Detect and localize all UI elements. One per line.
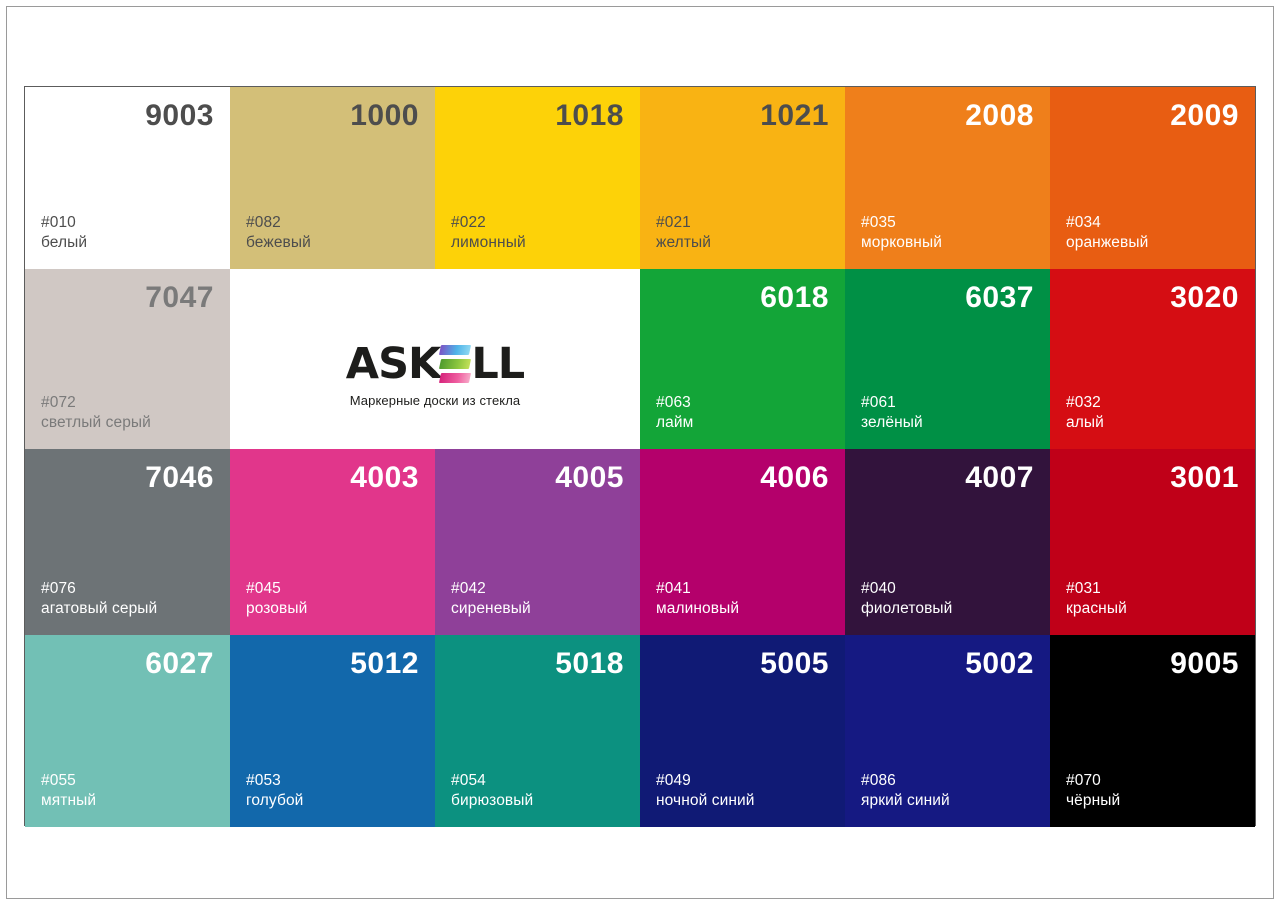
swatch-ral-number: 4003 [246,463,419,493]
swatch-meta: #042сиреневый [451,579,624,619]
swatch-ral-number: 9005 [1066,649,1239,679]
swatch-ral-number: 4006 [656,463,829,493]
swatch-article-code: #045 [246,579,419,599]
marker-stroke-e-icon [440,344,470,384]
marker-stroke-s2 [439,359,471,369]
color-swatch-9003[interactable]: 9003#010белый [25,87,230,269]
swatch-meta: #072светлый серый [41,393,214,433]
swatch-color-name: мятный [41,791,214,811]
color-swatch-7046[interactable]: 7046#076агатовый серый [25,449,230,635]
swatch-ral-number: 1018 [451,101,624,131]
color-swatch-1000[interactable]: 1000#082бежевый [230,87,435,269]
color-swatch-3020[interactable]: 3020#032алый [1050,269,1255,449]
swatch-meta: #063лайм [656,393,829,433]
swatch-article-code: #055 [41,771,214,791]
swatch-article-code: #053 [246,771,419,791]
swatch-color-name: розовый [246,599,419,619]
swatch-ral-number: 2009 [1066,101,1239,131]
color-swatch-6018[interactable]: 6018#063лайм [640,269,845,449]
swatch-meta: #022лимонный [451,213,624,253]
swatch-color-name: лимонный [451,233,624,253]
swatch-meta: #070чёрный [1066,771,1239,811]
swatch-article-code: #082 [246,213,419,233]
swatch-meta: #086яркий синий [861,771,1034,811]
swatch-color-name: яркий синий [861,791,1034,811]
color-swatch-4005[interactable]: 4005#042сиреневый [435,449,640,635]
swatch-meta: #049ночной синий [656,771,829,811]
swatch-article-code: #010 [41,213,214,233]
swatch-ral-number: 4005 [451,463,624,493]
swatch-article-code: #054 [451,771,624,791]
swatch-color-name: чёрный [1066,791,1239,811]
swatch-meta: #061зелёный [861,393,1034,433]
color-swatch-7047[interactable]: 7047#072светлый серый [25,269,230,449]
swatch-ral-number: 7046 [41,463,214,493]
swatch-article-code: #086 [861,771,1034,791]
swatch-article-code: #063 [656,393,829,413]
logo-text-ask: ASK [346,343,441,386]
swatch-ral-number: 4007 [861,463,1034,493]
swatch-article-code: #035 [861,213,1034,233]
swatch-article-code: #041 [656,579,829,599]
color-swatch-9005[interactable]: 9005#070чёрный [1050,635,1255,827]
swatch-meta: #032алый [1066,393,1239,433]
swatch-color-name: фиолетовый [861,599,1034,619]
swatch-color-name: морковный [861,233,1034,253]
swatch-ral-number: 5012 [246,649,419,679]
color-swatch-5018[interactable]: 5018#054бирюзовый [435,635,640,827]
swatch-color-name: красный [1066,599,1239,619]
swatch-article-code: #032 [1066,393,1239,413]
swatch-article-code: #042 [451,579,624,599]
swatch-color-name: бежевый [246,233,419,253]
swatch-meta: #031красный [1066,579,1239,619]
swatch-article-code: #021 [656,213,829,233]
swatch-meta: #035морковный [861,213,1034,253]
swatch-article-code: #034 [1066,213,1239,233]
swatch-ral-number: 5005 [656,649,829,679]
swatch-color-name: малиновый [656,599,829,619]
swatch-article-code: #070 [1066,771,1239,791]
swatch-meta: #082бежевый [246,213,419,253]
color-swatch-3001[interactable]: 3001#031красный [1050,449,1255,635]
swatch-color-name: лайм [656,413,829,433]
color-swatch-2009[interactable]: 2009#034оранжевый [1050,87,1255,269]
color-palette-page: 9003#010белый1000#082бежевый1018#022лимо… [0,0,1280,905]
swatch-color-name: алый [1066,413,1239,433]
swatch-ral-number: 1000 [246,101,419,131]
swatch-color-name: голубой [246,791,419,811]
swatch-ral-number: 1021 [656,101,829,131]
color-swatch-4006[interactable]: 4006#041малиновый [640,449,845,635]
swatch-color-name: зелёный [861,413,1034,433]
color-swatch-6037[interactable]: 6037#061зелёный [845,269,1050,449]
swatch-ral-number: 7047 [41,283,214,313]
swatch-article-code: #061 [861,393,1034,413]
swatch-meta: #054бирюзовый [451,771,624,811]
marker-stroke-s1 [439,345,471,355]
color-swatch-5012[interactable]: 5012#053голубой [230,635,435,827]
swatch-meta: #010белый [41,213,214,253]
color-swatch-4007[interactable]: 4007#040фиолетовый [845,449,1050,635]
swatch-color-name: оранжевый [1066,233,1239,253]
swatch-ral-number: 2008 [861,101,1034,131]
swatch-meta: #040фиолетовый [861,579,1034,619]
swatch-color-name: агатовый серый [41,599,214,619]
color-swatch-5005[interactable]: 5005#049ночной синий [640,635,845,827]
logo-tagline: Маркерные доски из стекла [350,393,521,408]
swatch-color-name: белый [41,233,214,253]
swatch-meta: #034оранжевый [1066,213,1239,253]
color-swatch-grid: 9003#010белый1000#082бежевый1018#022лимо… [24,86,1256,826]
swatch-ral-number: 5002 [861,649,1034,679]
swatch-meta: #055мятный [41,771,214,811]
color-swatch-6027[interactable]: 6027#055мятный [25,635,230,827]
swatch-meta: #041малиновый [656,579,829,619]
swatch-article-code: #022 [451,213,624,233]
swatch-article-code: #049 [656,771,829,791]
swatch-meta: #053голубой [246,771,419,811]
swatch-color-name: бирюзовый [451,791,624,811]
color-swatch-1018[interactable]: 1018#022лимонный [435,87,640,269]
swatch-article-code: #072 [41,393,214,413]
brand-logo-cell: ASKLLМаркерные доски из стекла [230,269,640,449]
swatch-ral-number: 3001 [1066,463,1239,493]
swatch-color-name: сиреневый [451,599,624,619]
swatch-ral-number: 6018 [656,283,829,313]
swatch-meta: #076агатовый серый [41,579,214,619]
swatch-meta: #021желтый [656,213,829,253]
askell-logo: ASKLLМаркерные доски из стекла [346,342,524,408]
color-swatch-2008[interactable]: 2008#035морковный [845,87,1050,269]
swatch-article-code: #040 [861,579,1034,599]
swatch-color-name: светлый серый [41,413,214,433]
swatch-ral-number: 5018 [451,649,624,679]
swatch-article-code: #031 [1066,579,1239,599]
logo-mark: ASKLL [346,342,524,386]
marker-stroke-s3 [439,373,471,383]
swatch-color-name: ночной синий [656,791,829,811]
swatch-ral-number: 6037 [861,283,1034,313]
swatch-ral-number: 6027 [41,649,214,679]
swatch-color-name: желтый [656,233,829,253]
logo-text-ll: LL [471,343,524,386]
color-swatch-1021[interactable]: 1021#021желтый [640,87,845,269]
swatch-ral-number: 3020 [1066,283,1239,313]
color-swatch-4003[interactable]: 4003#045розовый [230,449,435,635]
swatch-article-code: #076 [41,579,214,599]
swatch-meta: #045розовый [246,579,419,619]
swatch-ral-number: 9003 [41,101,214,131]
color-swatch-5002[interactable]: 5002#086яркий синий [845,635,1050,827]
